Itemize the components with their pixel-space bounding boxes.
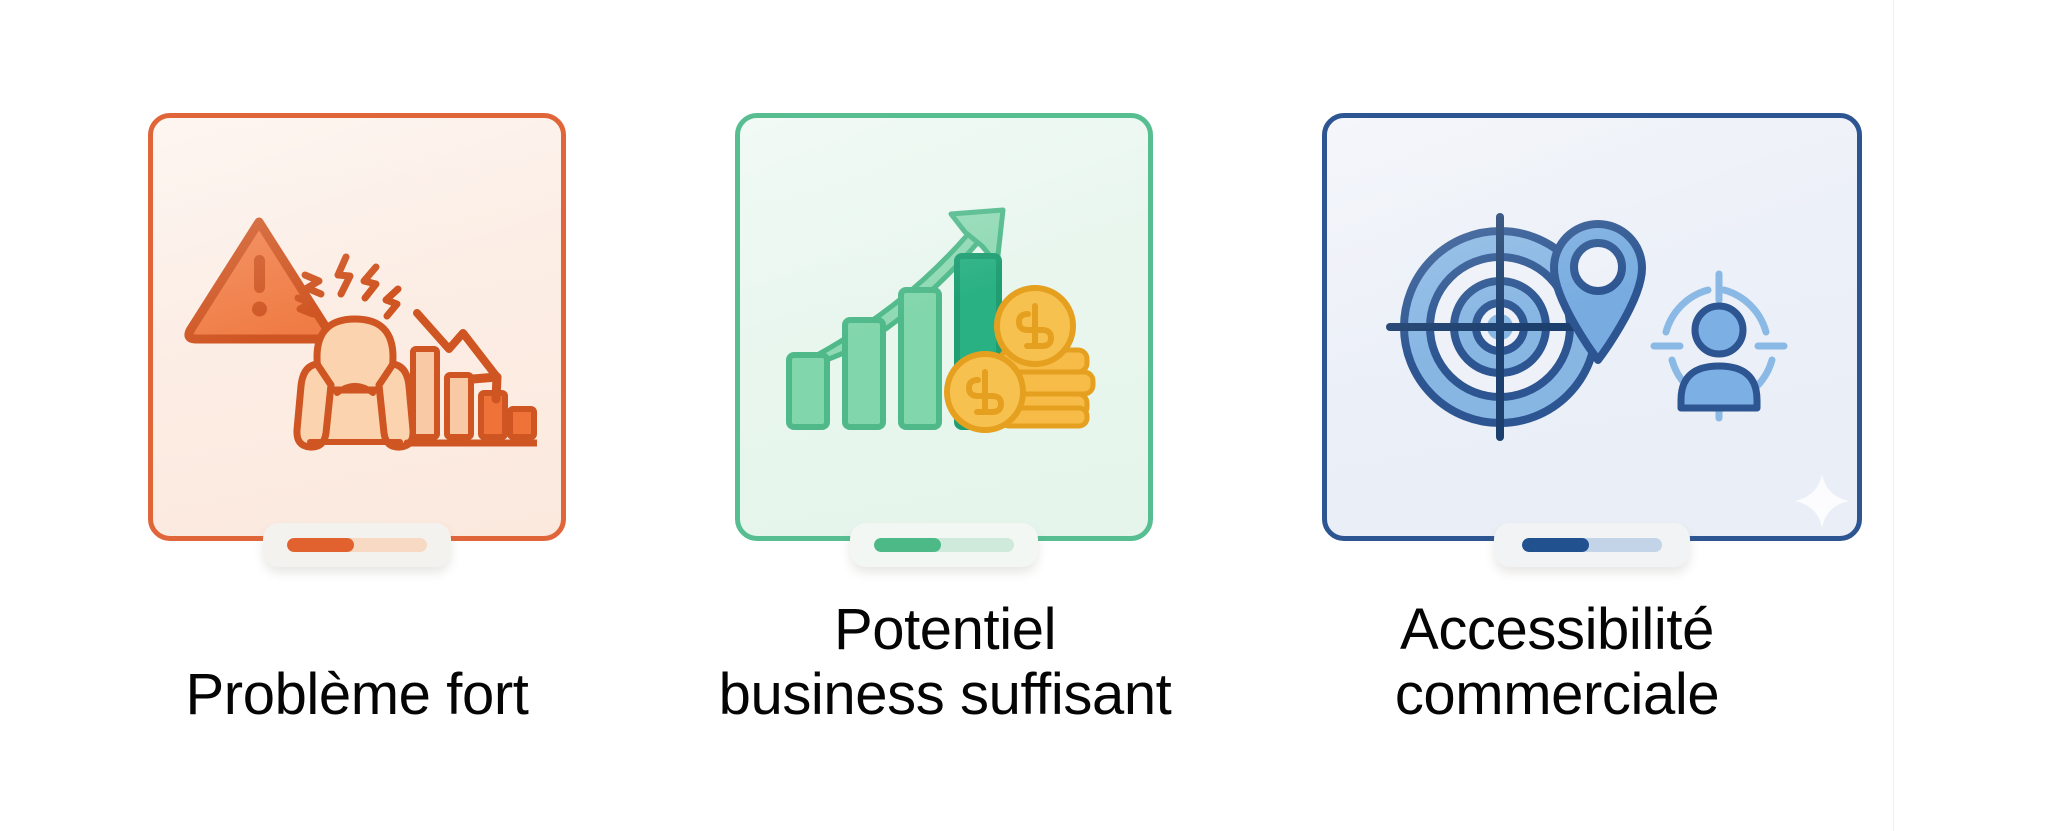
growth-chart-money-icon — [740, 118, 1148, 536]
card-caption-probleme-fort: Problème fort — [148, 663, 566, 728]
cards-row — [0, 0, 2048, 575]
declining-bar-chart-icon — [407, 349, 537, 443]
progress-track — [287, 538, 427, 552]
dollar-coin-icon — [997, 288, 1073, 364]
progress-fill — [1522, 538, 1589, 552]
card-stand-progress[interactable] — [850, 523, 1038, 567]
card-stand-progress[interactable] — [263, 523, 451, 567]
card-screen-probleme-fort[interactable] — [148, 113, 566, 541]
card-stand-progress[interactable] — [1494, 523, 1690, 567]
card-screen-potentiel-business[interactable] — [735, 113, 1153, 541]
card-potentiel-business[interactable] — [735, 113, 1153, 541]
progress-track — [1522, 538, 1662, 552]
progress-track — [874, 538, 1014, 552]
card-caption-potentiel-business: Potentiel business suffisant — [690, 598, 1200, 728]
card-accessibilite-commerciale[interactable] — [1322, 113, 1862, 541]
card-caption-accessibilite-commerciale: Accessibilité commerciale — [1322, 598, 1792, 728]
slide-canvas: Problème fort Potentiel business suffisa… — [0, 0, 2048, 831]
card-probleme-fort[interactable] — [148, 113, 566, 541]
progress-fill — [874, 538, 941, 552]
warning-stressed-declining-chart-icon — [153, 118, 561, 536]
warning-triangle-icon — [189, 222, 329, 339]
progress-fill — [287, 538, 354, 552]
dollar-coin-front-icon — [947, 354, 1023, 430]
target-location-persona-icon — [1327, 118, 1857, 536]
person-in-crosshair-icon — [1654, 274, 1784, 418]
card-screen-accessibilite-commerciale[interactable] — [1322, 113, 1862, 541]
